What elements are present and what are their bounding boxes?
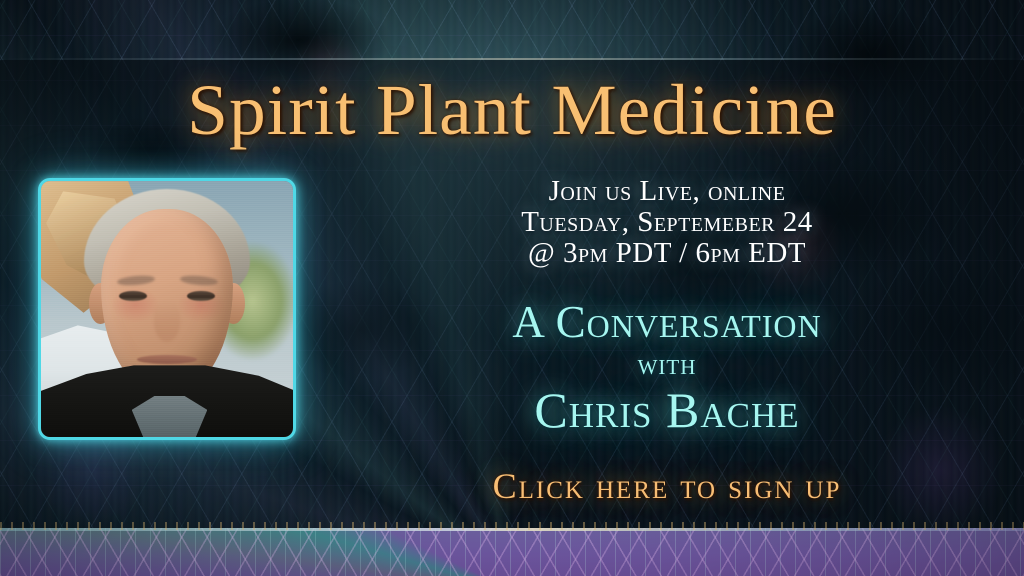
event-line-time: @ 3pm PDT / 6pm EDT bbox=[330, 238, 1004, 269]
portrait-grain-overlay bbox=[41, 181, 293, 437]
event-line-date: Tuesday, Septemeber 24 bbox=[330, 207, 1004, 238]
avatar bbox=[41, 181, 293, 437]
sign-up-link[interactable]: Click here to sign up bbox=[330, 466, 1004, 506]
feature-heading: A Conversation bbox=[330, 297, 1004, 347]
poster-content: Spirit Plant Medicine bbox=[0, 0, 1024, 576]
block-spacer bbox=[330, 269, 1004, 297]
guest-speaker-name: Chris Bache bbox=[330, 383, 1004, 437]
event-details-block: Join us Live, online Tuesday, Septemeber… bbox=[330, 176, 1004, 437]
webinar-promo-poster: Spirit Plant Medicine bbox=[0, 0, 1024, 576]
event-line-join: Join us Live, online bbox=[330, 176, 1004, 207]
page-title: Spirit Plant Medicine bbox=[0, 74, 1024, 146]
speaker-portrait-frame bbox=[38, 178, 296, 440]
feature-connector: with bbox=[330, 347, 1004, 383]
